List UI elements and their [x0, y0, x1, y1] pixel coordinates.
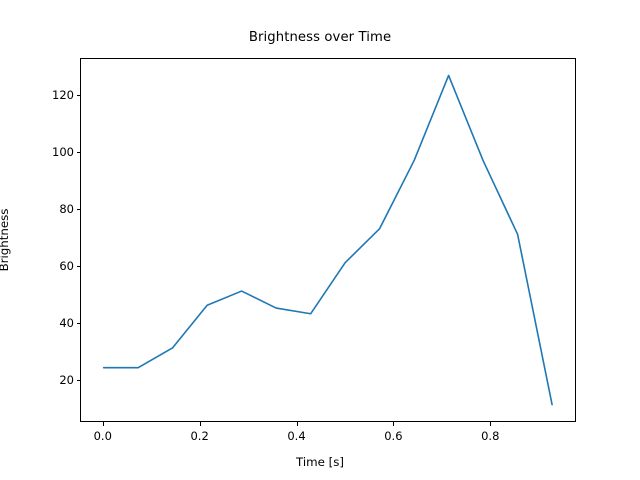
- chart-figure: Brightness over Time 20406080100120 0.00…: [0, 0, 640, 480]
- y-tick-mark: [77, 95, 81, 96]
- y-tick-mark: [77, 209, 81, 210]
- y-tick-label: 80: [30, 202, 74, 216]
- x-tick-label: 0.0: [94, 429, 112, 443]
- x-tick-mark: [297, 422, 298, 426]
- x-tick-mark: [490, 422, 491, 426]
- y-axis-label: Brightness: [0, 209, 11, 272]
- y-tick-label: 20: [30, 373, 74, 387]
- x-axis-label: Time [s]: [0, 455, 640, 469]
- chart-title: Brightness over Time: [0, 30, 640, 45]
- y-tick-mark: [77, 266, 81, 267]
- x-tick-label: 0.4: [287, 429, 305, 443]
- y-tick-label: 120: [30, 88, 74, 102]
- x-tick-mark: [103, 422, 104, 426]
- y-tick-label: 40: [30, 316, 74, 330]
- x-tick-label: 0.2: [190, 429, 208, 443]
- x-tick-label: 0.6: [384, 429, 402, 443]
- y-tick-mark: [77, 380, 81, 381]
- x-tick-label: 0.8: [481, 429, 499, 443]
- brightness-line: [104, 75, 552, 404]
- line-series-svg: [81, 59, 575, 421]
- y-tick-mark: [77, 323, 81, 324]
- y-tick-mark: [77, 152, 81, 153]
- x-tick-mark: [200, 422, 201, 426]
- y-tick-label: 100: [30, 145, 74, 159]
- x-tick-mark: [393, 422, 394, 426]
- plot-area: [80, 58, 576, 422]
- y-tick-label: 60: [30, 259, 74, 273]
